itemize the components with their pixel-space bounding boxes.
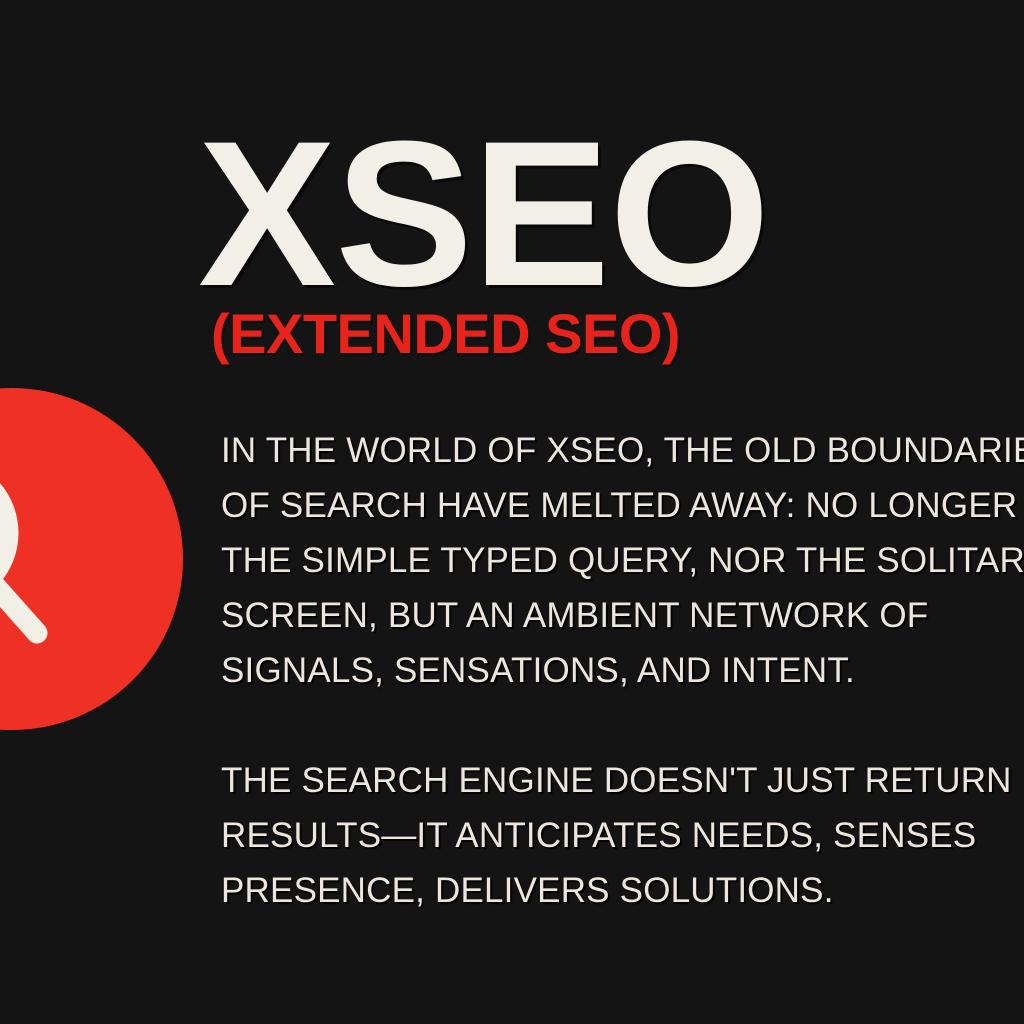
page-title: XSEO [198, 133, 1024, 294]
copy-line: THE SIMPLE TYPED QUERY, NOR THE SOLITARY [221, 533, 1024, 588]
copy-line: THE SEARCH ENGINE DOESN'T JUST RETURN [221, 753, 1024, 808]
copy-line: RESULTS—IT ANTICIPATES NEEDS, SENSES [221, 808, 1024, 863]
title-block: XSEO (EXTENDED SEO) [198, 133, 1024, 362]
page-subtitle: (EXTENDED SEO) [211, 306, 1024, 362]
copy-line: PRESENCE, DELIVERS SOLUTIONS. [221, 863, 1024, 918]
copy-line: SCREEN, BUT AN AMBIENT NETWORK OF [221, 588, 1024, 643]
poster-canvas: XSEO (EXTENDED SEO) IN THE WORLD OF XSEO… [0, 0, 1024, 1024]
copy-line: OF SEARCH HAVE MELTED AWAY: NO LONGER [221, 478, 1024, 533]
search-badge [0, 388, 183, 730]
copy-line: SIGNALS, SENSATIONS, AND INTENT. [221, 643, 1024, 698]
paragraph-2: THE SEARCH ENGINE DOESN'T JUST RETURN RE… [221, 753, 1024, 918]
paragraph-1: IN THE WORLD OF XSEO, THE OLD BOUNDARIES… [221, 423, 1024, 698]
body-copy: IN THE WORLD OF XSEO, THE OLD BOUNDARIES… [221, 423, 1024, 918]
copy-line: IN THE WORLD OF XSEO, THE OLD BOUNDARIES [221, 423, 1024, 478]
search-icon [0, 388, 183, 730]
